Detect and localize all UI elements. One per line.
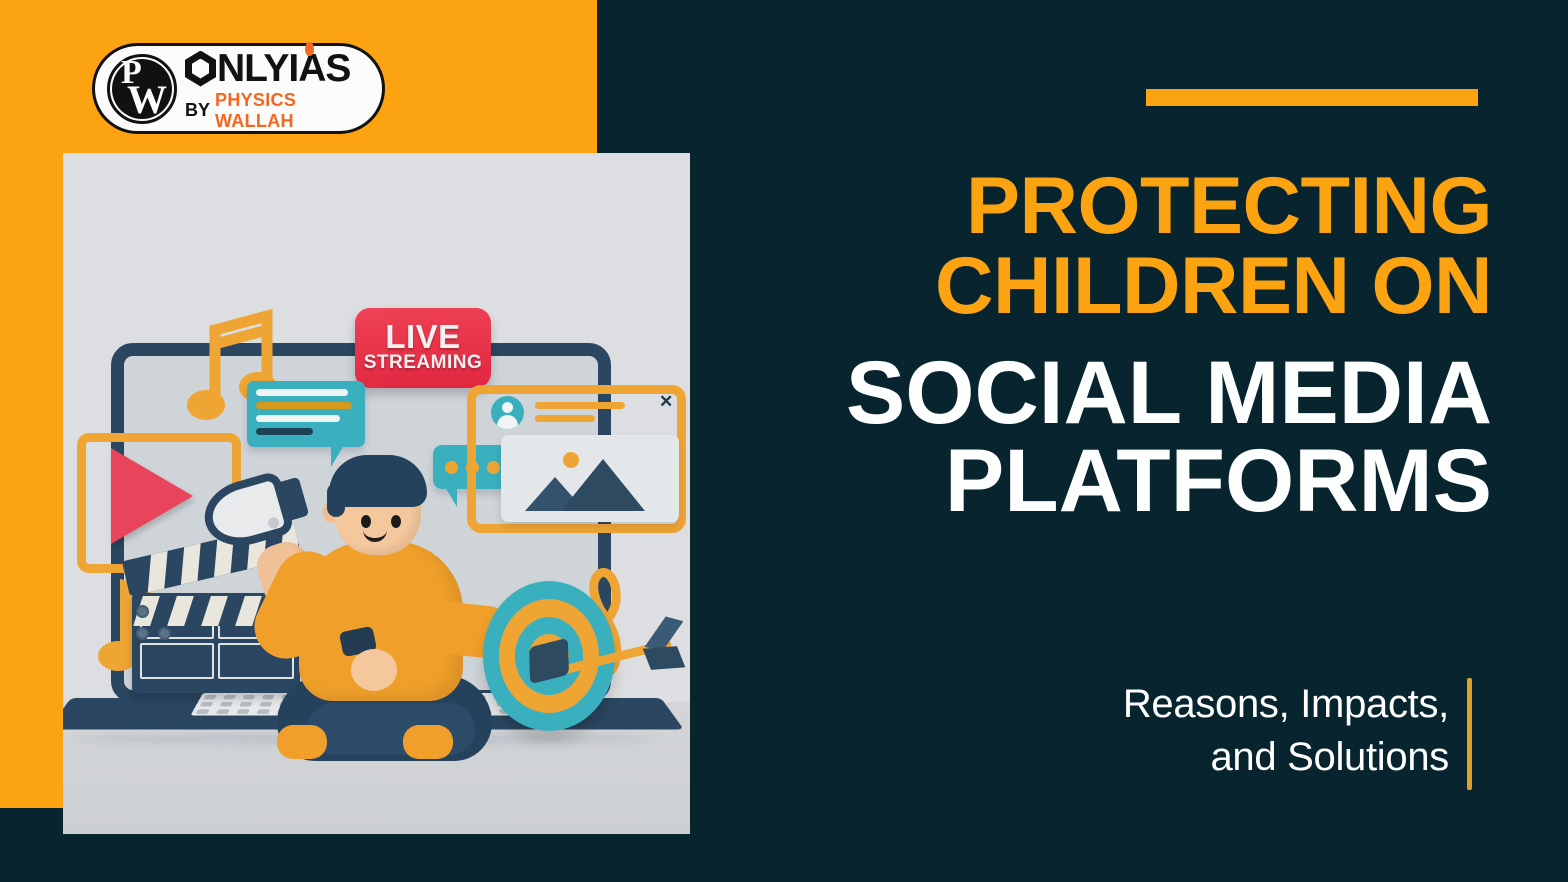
- poster-canvas: P W NLYIAS BY PHYSICS WALLAH: [0, 0, 1568, 882]
- title-line-4: PLATFORMS: [700, 436, 1492, 524]
- pw-monogram-icon: P W: [103, 50, 181, 128]
- chat-bubble-icon: [247, 381, 365, 447]
- subtitle-text: Reasons, Impacts, and Solutions: [1123, 678, 1449, 790]
- live-streaming-badge: LIVE STREAMING: [355, 308, 491, 388]
- logo-wordmark-text: NLYIAS: [217, 47, 350, 91]
- person-foot-left: [277, 725, 327, 759]
- subtitle-accent-rule: [1467, 678, 1472, 790]
- title-line-1: PROTECTING: [700, 166, 1492, 246]
- post-text-line-2: [535, 415, 595, 422]
- page-title: PROTECTING CHILDREN ON SOCIAL MEDIA PLAT…: [700, 166, 1492, 525]
- title-line-3: SOCIAL MEDIA: [700, 348, 1492, 436]
- subtitle-line-1: Reasons, Impacts,: [1123, 678, 1449, 731]
- logo-subtext: BY PHYSICS WALLAH: [185, 90, 380, 132]
- image-placeholder-icon: [525, 449, 657, 511]
- hexagon-o-icon: [185, 51, 216, 87]
- person-right-hand: [351, 649, 397, 691]
- logo-wordmark: NLYIAS: [185, 46, 380, 92]
- pw-letter-w: W: [127, 80, 165, 120]
- live-badge-line1: LIVE: [385, 322, 460, 352]
- post-text-line-1: [535, 402, 625, 409]
- subtitle-line-2: and Solutions: [1123, 731, 1449, 784]
- title-line-2: CHILDREN ON: [700, 246, 1492, 326]
- person-illustration: [271, 453, 521, 788]
- accent-rule-top: [1146, 89, 1478, 106]
- avatar-icon: [491, 396, 524, 429]
- logo-sub-name: PHYSICS WALLAH: [215, 90, 380, 132]
- onlyias-logo: P W NLYIAS BY PHYSICS WALLAH: [92, 43, 385, 134]
- live-badge-line2: STREAMING: [364, 352, 483, 374]
- logo-sub-by: BY: [185, 100, 210, 121]
- person-foot-right: [403, 725, 453, 759]
- close-icon[interactable]: ✕: [659, 393, 673, 410]
- logo-i-dot-icon: [305, 42, 314, 56]
- subtitle-block: Reasons, Impacts, and Solutions: [960, 678, 1472, 790]
- hero-illustration: LIVE STREAMING ✕: [63, 153, 690, 834]
